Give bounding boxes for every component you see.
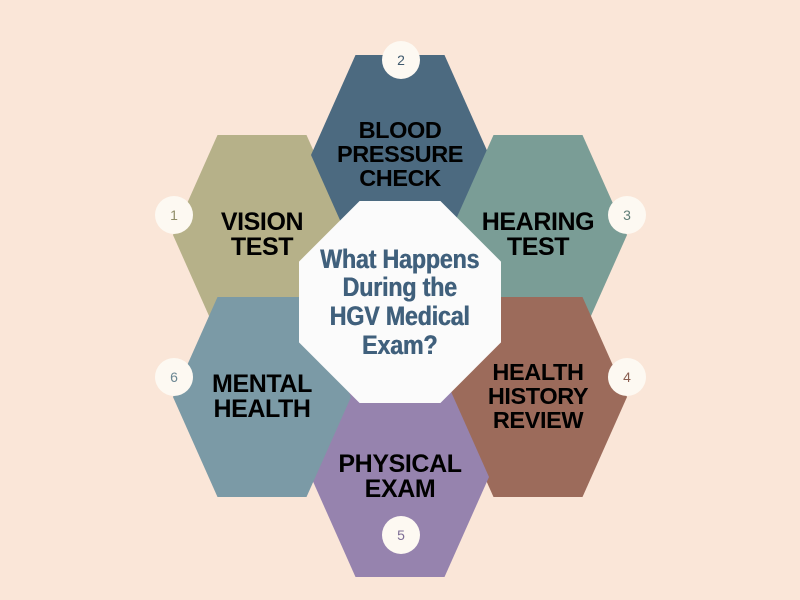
step-badge-5-number: 5 <box>397 527 405 543</box>
step-badge-2: 2 <box>382 41 420 79</box>
step-badge-2-number: 2 <box>397 52 405 68</box>
step-badge-4: 4 <box>608 358 646 396</box>
step-badge-3: 3 <box>608 196 646 234</box>
petal-label-physical-exam: PHYSICAL EXAM <box>334 452 465 503</box>
page-title: What Happens During the HGV Medical Exam… <box>320 245 479 359</box>
step-badge-6: 6 <box>155 358 193 396</box>
step-badge-1: 1 <box>155 196 193 234</box>
step-badge-5: 5 <box>382 516 420 554</box>
step-badge-4-number: 4 <box>623 369 631 385</box>
petal-label-vision-test: VISION TEST <box>217 210 307 261</box>
petal-label-blood-pressure-check: BLOOD PRESSURE CHECK <box>333 119 467 191</box>
step-badge-6-number: 6 <box>170 369 178 385</box>
infographic-canvas: VISION TEST BLOOD PRESSURE CHECK HEARING… <box>0 0 800 600</box>
petal-label-health-history-review: HEALTH HISTORY REVIEW <box>484 361 592 433</box>
petal-label-mental-health: MENTAL HEALTH <box>208 372 316 423</box>
step-badge-3-number: 3 <box>623 207 631 223</box>
petal-label-hearing-test: HEARING TEST <box>478 210 598 261</box>
step-badge-1-number: 1 <box>170 207 178 223</box>
